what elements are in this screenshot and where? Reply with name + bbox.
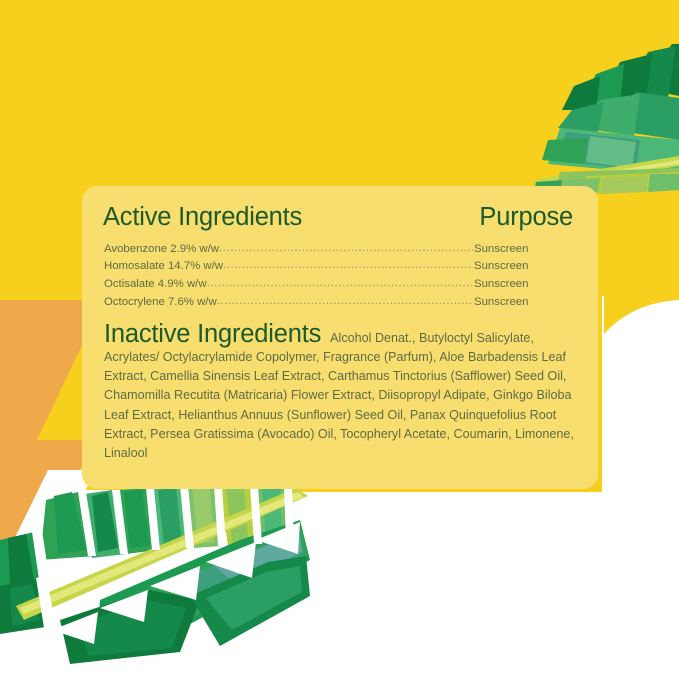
inactive-ingredients-section: Inactive Ingredients Alcohol Denat., But… bbox=[102, 322, 578, 463]
leader-dots: ........................................… bbox=[217, 296, 473, 307]
active-ingredients-heading: Active Ingredients bbox=[103, 204, 302, 231]
ingredient-purpose: Sunscreen bbox=[474, 244, 578, 255]
ingredient-name: Avobenzone 2.9% w/w bbox=[104, 244, 219, 255]
ingredient-name: Octocrylene 7.6% w/w bbox=[104, 297, 217, 308]
ingredient-purpose: Sunscreen bbox=[474, 261, 578, 272]
active-ingredient-row: Octocrylene 7.6% w/w ...................… bbox=[104, 297, 578, 308]
leader-dots: ........................................… bbox=[207, 278, 473, 289]
active-ingredients-list: Avobenzone 2.9% w/w ....................… bbox=[102, 244, 578, 308]
leader-dots: ........................................… bbox=[219, 243, 473, 254]
ingredient-name: Octisalate 4.9% w/w bbox=[104, 279, 207, 290]
card-header-row: Active Ingredients Purpose bbox=[102, 204, 578, 231]
ingredients-card: Active Ingredients Purpose Avobenzone 2.… bbox=[82, 186, 598, 489]
leader-dots: ........................................… bbox=[223, 260, 473, 271]
active-ingredient-row: Avobenzone 2.9% w/w ....................… bbox=[104, 244, 578, 255]
document-canvas: Active Ingredients Purpose Avobenzone 2.… bbox=[0, 0, 679, 679]
inactive-ingredients-heading: Inactive Ingredients bbox=[104, 322, 321, 348]
ingredient-name: Homosalate 14.7% w/w bbox=[104, 261, 223, 272]
active-ingredient-row: Homosalate 14.7% w/w ...................… bbox=[104, 261, 578, 272]
purpose-heading: Purpose bbox=[479, 204, 578, 231]
active-ingredient-row: Octisalate 4.9% w/w ....................… bbox=[104, 279, 578, 290]
ingredient-purpose: Sunscreen bbox=[474, 297, 578, 308]
ingredient-purpose: Sunscreen bbox=[474, 279, 578, 290]
